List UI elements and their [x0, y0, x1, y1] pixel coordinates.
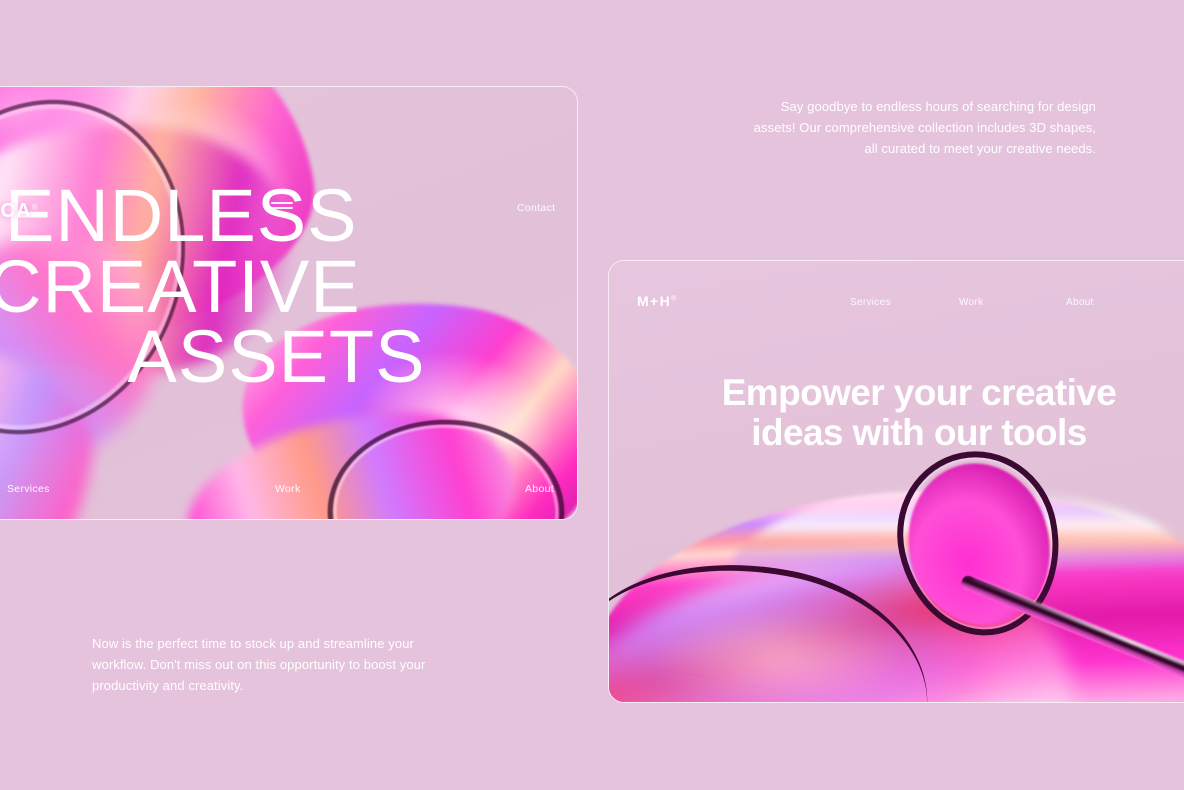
card-one-logo-text: ECA	[0, 200, 32, 222]
intro-paragraph: Say goodbye to endless hours of searchin…	[752, 96, 1096, 159]
card-one-logo-mark: ®	[32, 202, 39, 211]
outro-paragraph: Now is the perfect time to stock up and …	[92, 633, 457, 696]
card-one-footer-nav: Services Work About	[0, 483, 578, 503]
card-two-artwork	[609, 441, 1184, 703]
hamburger-icon[interactable]	[271, 202, 293, 211]
presentation-canvas: ECA® Contact ENDLESS CREATIVE ASSETS Ser…	[0, 0, 1184, 790]
hero-card-one: ECA® Contact ENDLESS CREATIVE ASSETS Ser…	[0, 86, 578, 520]
card-two-headline: Empower your creative ideas with our too…	[609, 373, 1184, 453]
headline-line-2: ideas with our tools	[609, 413, 1184, 453]
card-two-logo-mark: ®	[671, 295, 678, 302]
card-one-headline: ENDLESS CREATIVE ASSETS	[1, 181, 576, 393]
nav-item-services[interactable]: Services	[850, 297, 891, 308]
card-two-logo-text: M+H	[637, 293, 671, 309]
nav-item-about[interactable]: About	[1066, 297, 1094, 308]
nav-item-work[interactable]: Work	[959, 297, 983, 308]
headline-line-1: ENDLESS	[1, 181, 576, 252]
contact-link[interactable]: Contact	[517, 202, 555, 214]
headline-line-3: ASSETS	[1, 322, 576, 393]
hero-card-one-content: ECA® Contact ENDLESS CREATIVE ASSETS Ser…	[0, 87, 577, 519]
nav-item-services[interactable]: Services	[7, 483, 50, 495]
nav-item-work[interactable]: Work	[275, 483, 301, 495]
card-one-logo[interactable]: ECA®	[0, 200, 39, 223]
card-two-logo[interactable]: M+H®	[637, 293, 678, 309]
hamburger-line	[271, 202, 293, 204]
headline-line-1: Empower your creative	[609, 373, 1184, 413]
hamburger-line	[271, 207, 293, 209]
hero-card-two: M+H® Services Work About Empower your cr…	[608, 260, 1184, 703]
nav-item-about[interactable]: About	[525, 483, 554, 495]
headline-line-2: CREATIVE	[0, 252, 576, 323]
